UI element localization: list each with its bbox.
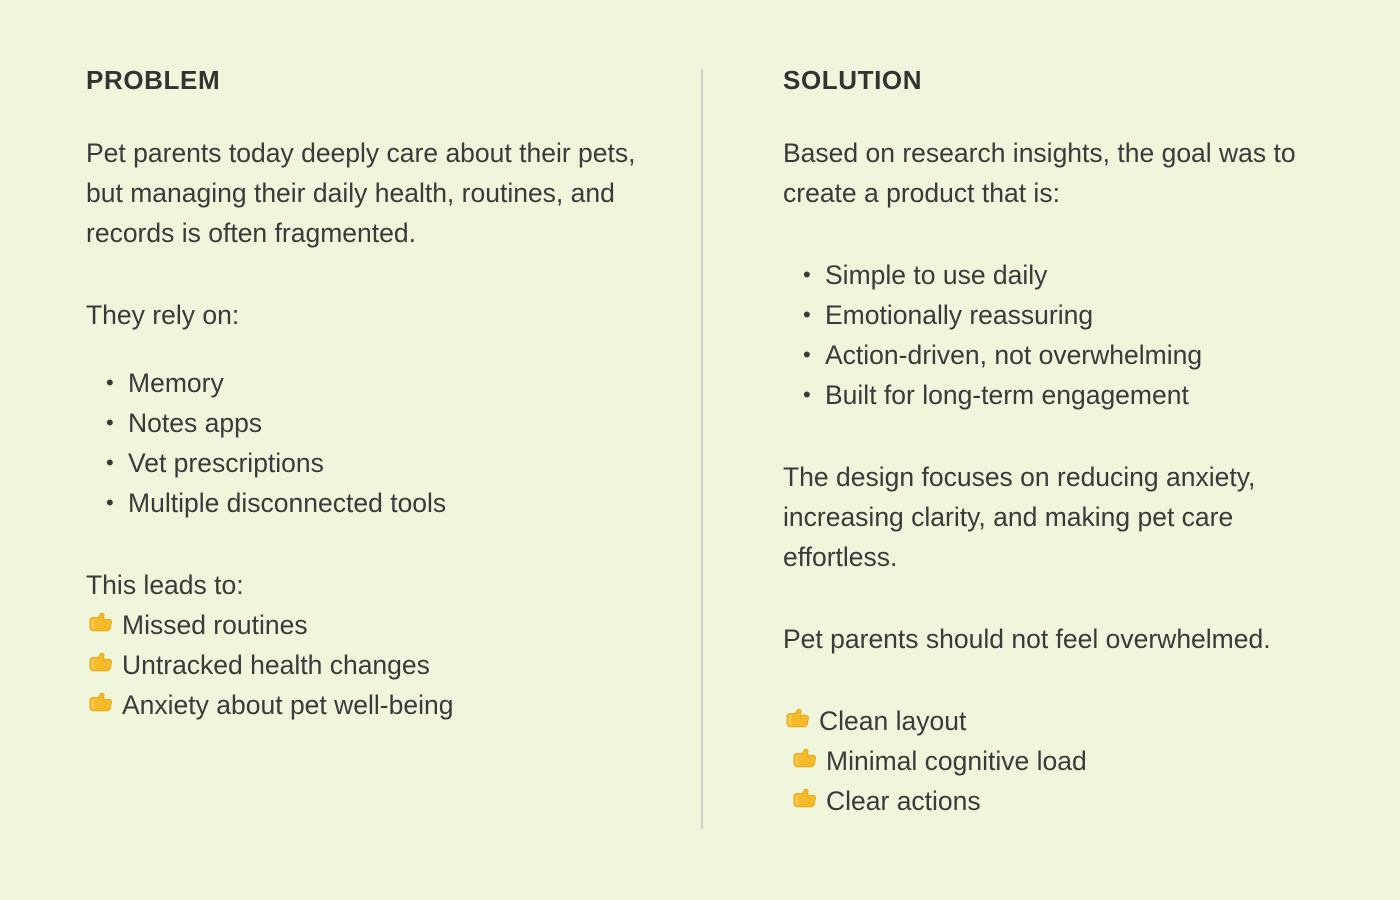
spacer [86, 253, 646, 295]
bullet-dot-icon: • [803, 335, 811, 375]
bullet-dot-icon: • [106, 443, 114, 483]
list-item: • Vet prescriptions [86, 443, 646, 483]
point-right-hand-icon [790, 746, 826, 772]
list-item-label: Action-driven, not overwhelming [825, 340, 1202, 370]
point-right-hand-icon [790, 786, 826, 812]
bullet-dot-icon: • [803, 255, 811, 295]
list-item-label: Anxiety about pet well-being [122, 685, 453, 725]
list-item: • Action-driven, not overwhelming [783, 335, 1343, 375]
list-item: • Simple to use daily [783, 255, 1343, 295]
list-item: Minimal cognitive load [783, 741, 1343, 781]
spacer [783, 415, 1343, 457]
problem-bullet-list: • Memory • Notes apps • Vet prescription… [86, 363, 646, 523]
problem-consequence-lead-in: This leads to: [86, 565, 646, 605]
list-item: • Multiple disconnected tools [86, 483, 646, 523]
list-item: Anxiety about pet well-being [86, 685, 646, 725]
solution-column: SOLUTION Based on research insights, the… [783, 66, 1343, 821]
bullet-dot-icon: • [106, 403, 114, 443]
list-item-label: Untracked health changes [122, 645, 430, 685]
list-item: Clear actions [783, 781, 1343, 821]
list-item-label: Simple to use daily [825, 260, 1047, 290]
list-item-label: Missed routines [122, 605, 308, 645]
bullet-dot-icon: • [803, 295, 811, 335]
list-item: Untracked health changes [86, 645, 646, 685]
problem-intro-paragraph: Pet parents today deeply care about thei… [86, 133, 646, 253]
solution-design-paragraph: The design focuses on reducing anxiety, … [783, 457, 1343, 577]
list-item-label: Memory [128, 368, 224, 398]
bullet-dot-icon: • [803, 375, 811, 415]
list-item-label: Minimal cognitive load [826, 741, 1087, 781]
point-right-hand-icon [86, 690, 122, 716]
bullet-dot-icon: • [106, 483, 114, 523]
spacer [86, 335, 646, 363]
list-item-label: Vet prescriptions [128, 448, 324, 478]
spacer [783, 213, 1343, 255]
solution-intro-paragraph: Based on research insights, the goal was… [783, 133, 1343, 213]
list-item-label: Clean layout [819, 701, 966, 741]
list-item-label: Notes apps [128, 408, 262, 438]
problem-consequence-list: Missed routines Untracked health changes [86, 605, 646, 725]
spacer [783, 659, 1343, 701]
list-item: • Built for long-term engagement [783, 375, 1343, 415]
list-item: • Memory [86, 363, 646, 403]
slide-canvas: PROBLEM Pet parents today deeply care ab… [0, 0, 1400, 900]
spacer [86, 523, 646, 565]
bullet-dot-icon: • [106, 363, 114, 403]
point-right-hand-icon [783, 706, 819, 732]
list-item-label: Clear actions [826, 781, 981, 821]
list-item: • Emotionally reassuring [783, 295, 1343, 335]
list-item-label: Multiple disconnected tools [128, 488, 446, 518]
problem-column: PROBLEM Pet parents today deeply care ab… [86, 66, 646, 725]
column-divider [701, 69, 703, 829]
list-item: Missed routines [86, 605, 646, 645]
solution-section-title: SOLUTION [783, 66, 1343, 95]
list-item-label: Built for long-term engagement [825, 380, 1189, 410]
solution-closing-statement: Pet parents should not feel overwhelmed. [783, 619, 1343, 659]
problem-section-title: PROBLEM [86, 66, 646, 95]
solution-bullet-list: • Simple to use daily • Emotionally reas… [783, 255, 1343, 415]
solution-outcome-list: Clean layout Minimal cognitive load [783, 701, 1343, 821]
point-right-hand-icon [86, 610, 122, 636]
problem-lead-in: They rely on: [86, 295, 646, 335]
list-item-label: Emotionally reassuring [825, 300, 1093, 330]
spacer [783, 577, 1343, 619]
point-right-hand-icon [86, 650, 122, 676]
list-item: Clean layout [783, 701, 1343, 741]
list-item: • Notes apps [86, 403, 646, 443]
